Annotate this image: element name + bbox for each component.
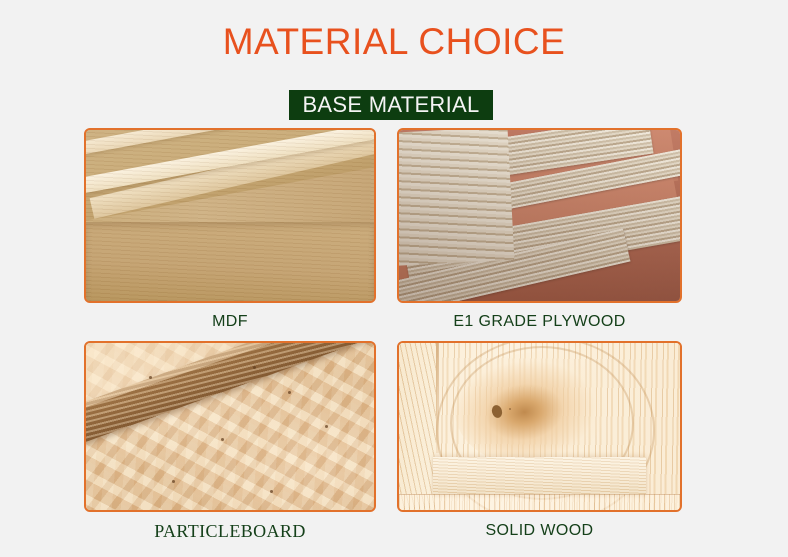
- solid-wood-pine-photo: [399, 343, 680, 510]
- mdf-board-photo: [86, 130, 374, 301]
- caption-solid-wood: SOLID WOOD: [397, 520, 682, 542]
- caption-mdf: MDF: [84, 311, 376, 333]
- wood-cross-rail: [433, 457, 647, 495]
- caption-e1-grade-plywood: E1 GRADE PLYWOOD: [397, 311, 682, 333]
- particleboard-osb-photo: [86, 343, 374, 510]
- mdf-grain-texture: [86, 130, 374, 301]
- osb-speck: [325, 425, 328, 428]
- plywood-stack-photo: [399, 130, 680, 301]
- plywood-shading: [399, 130, 680, 301]
- wood-speck: [509, 408, 511, 410]
- photo-frame-mdf: [84, 128, 376, 303]
- caption-particleboard: PARTICLEBOARD: [84, 520, 376, 542]
- base-material-badge: BASE MATERIAL: [289, 90, 493, 120]
- wood-left-plank: [399, 343, 436, 510]
- wood-bottom-plank: [399, 494, 680, 510]
- photo-frame-plywood: [397, 128, 682, 303]
- material-card-solid-wood[interactable]: SOLID WOOD: [397, 341, 682, 542]
- page-title: MATERIAL CHOICE: [0, 20, 788, 64]
- material-card-e1-grade-plywood[interactable]: E1 GRADE PLYWOOD: [397, 128, 682, 333]
- photo-frame-solid-wood: [397, 341, 682, 512]
- material-card-mdf[interactable]: MDF: [84, 128, 376, 333]
- material-card-particleboard[interactable]: PARTICLEBOARD: [84, 341, 376, 542]
- photo-frame-particleboard: [84, 341, 376, 512]
